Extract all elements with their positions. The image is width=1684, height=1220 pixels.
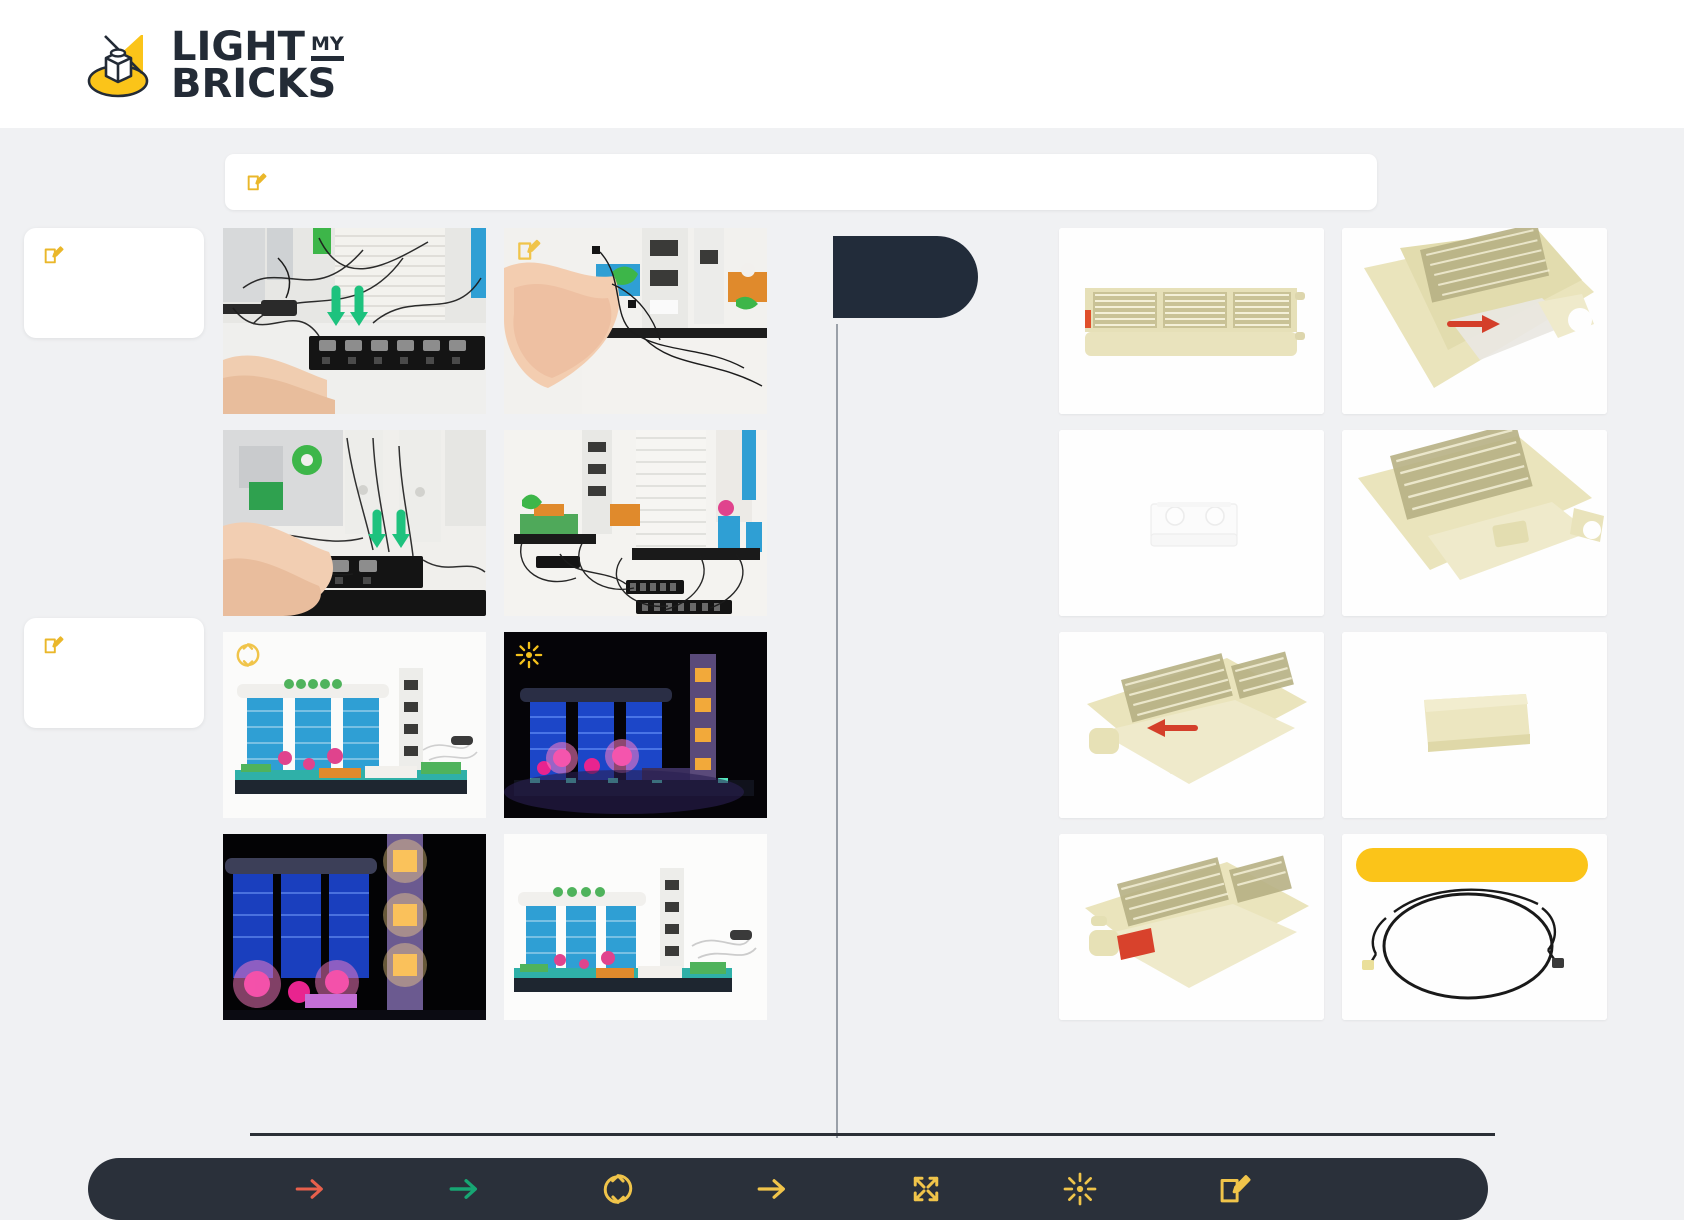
bottom-toolbar: [88, 1158, 1488, 1220]
page-body: [0, 128, 1684, 1191]
sunburst-icon: [1063, 1172, 1097, 1206]
rotate-button[interactable]: [586, 1158, 650, 1220]
yellow-banner[interactable]: [1356, 848, 1588, 882]
photo-tower-lit: [223, 834, 486, 1020]
parts-row: [1059, 430, 1477, 616]
sunburst-icon[interactable]: [515, 641, 543, 669]
edit-square-icon[interactable]: [515, 237, 541, 263]
parts-row: [1059, 632, 1477, 818]
gallery-row: [223, 632, 768, 818]
gallery-row: [223, 228, 768, 414]
edit-square-icon[interactable]: [245, 171, 267, 193]
edit-square-icon[interactable]: [42, 634, 64, 656]
gallery-item[interactable]: [504, 228, 767, 414]
part-item[interactable]: [1342, 632, 1607, 818]
green-arrow-right-button[interactable]: [432, 1158, 496, 1220]
photo-model-litup: [504, 632, 767, 818]
column-divider: [836, 324, 838, 1138]
gallery-item[interactable]: [504, 632, 767, 818]
photo-model-usb: [504, 834, 767, 1020]
part-arrow-red-right: [1342, 228, 1607, 414]
part-red-element: [1059, 834, 1324, 1020]
note-card-2[interactable]: [24, 618, 204, 728]
expand-arrows-icon: [909, 1172, 943, 1206]
rotate-icon[interactable]: [234, 641, 262, 669]
part-item[interactable]: [1342, 228, 1607, 414]
photo-board-arrows-a: [223, 228, 486, 414]
rotate-icon: [601, 1172, 635, 1206]
photo-hand-wire: [504, 228, 767, 414]
arrow-right-icon: [447, 1172, 481, 1206]
brick-logo-icon: [85, 31, 157, 101]
arrow-right-icon: [293, 1172, 327, 1206]
note-card-1[interactable]: [24, 228, 204, 338]
part-tan-tile: [1342, 632, 1607, 818]
gallery-item[interactable]: [223, 834, 486, 1020]
part-arrow-red-left: [1059, 632, 1324, 818]
part-panel-angled: [1342, 430, 1607, 616]
gallery-item[interactable]: [223, 228, 486, 414]
app-header: LIGHT MY BRICKS: [0, 0, 1684, 128]
top-info-card[interactable]: [225, 154, 1377, 210]
part-item[interactable]: [1342, 430, 1607, 616]
logo-word-light: LIGHT: [171, 30, 305, 65]
gallery-item[interactable]: [504, 430, 767, 616]
photo-model-wired: [504, 430, 767, 616]
gallery-item[interactable]: [223, 430, 486, 616]
gallery-item[interactable]: [223, 632, 486, 818]
part-item[interactable]: [1059, 228, 1324, 414]
brand-logo[interactable]: LIGHT MY BRICKS: [85, 30, 344, 102]
gallery-row: [223, 430, 768, 616]
parts-row: [1059, 834, 1477, 1020]
photo-model-daylight: [223, 632, 486, 818]
arrow-right-icon: [755, 1172, 789, 1206]
part-item[interactable]: [1059, 834, 1324, 1020]
part-item[interactable]: [1059, 632, 1324, 818]
part-item[interactable]: [1342, 834, 1607, 1020]
parts-row: [1059, 228, 1477, 414]
sunburst-button[interactable]: [1048, 1158, 1112, 1220]
part-grille-row: [1059, 228, 1324, 414]
logo-word-bricks: BRICKS: [171, 67, 344, 102]
middle-gallery: [223, 228, 768, 1036]
yellow-arrow-right-button[interactable]: [740, 1158, 804, 1220]
gallery-row: [223, 834, 768, 1020]
red-arrow-right-button[interactable]: [278, 1158, 342, 1220]
edit-square-icon[interactable]: [42, 244, 64, 266]
expand-button[interactable]: [894, 1158, 958, 1220]
dark-pill-banner: [833, 236, 978, 318]
gallery-item[interactable]: [504, 834, 767, 1020]
bottom-divider: [250, 1133, 1495, 1136]
edit-button[interactable]: [1202, 1158, 1266, 1220]
parts-gallery: [1059, 228, 1477, 1036]
brand-wordmark: LIGHT MY BRICKS: [171, 30, 344, 102]
photo-board-arrows-b: [223, 430, 486, 616]
part-clear-plate: [1059, 430, 1324, 616]
part-item[interactable]: [1059, 430, 1324, 616]
logo-word-my: MY: [311, 36, 344, 53]
edit-square-icon: [1217, 1172, 1251, 1206]
